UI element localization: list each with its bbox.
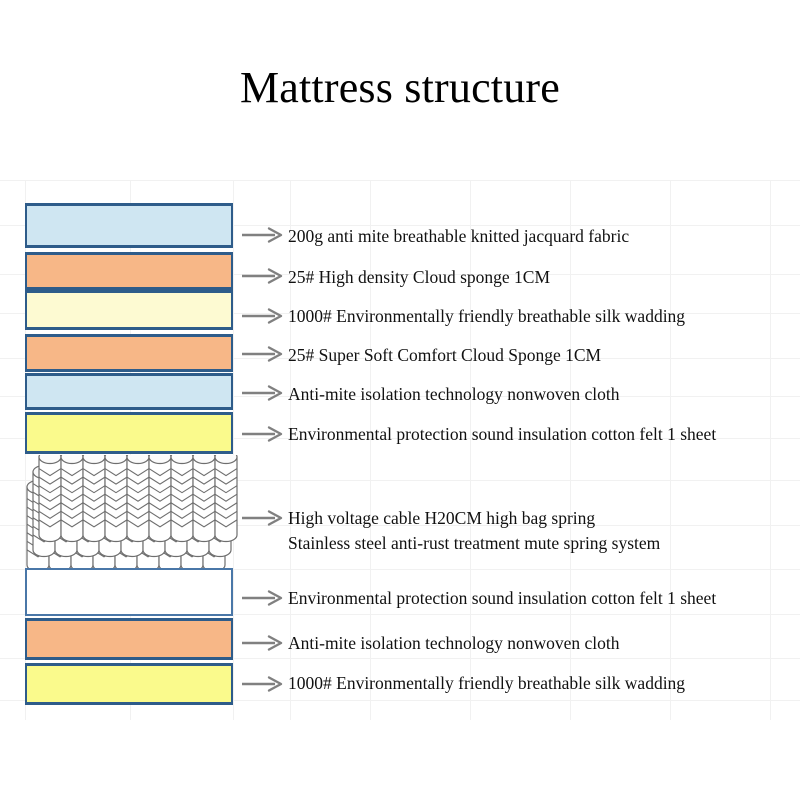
mattress-layer-cotton-felt-bottom xyxy=(25,568,233,616)
layer-label-line2: Stainless steel anti-rust treatment mute… xyxy=(288,531,660,556)
layer-label: Environmental protection sound insulatio… xyxy=(288,586,716,611)
layer-label-line1: 25# High density Cloud sponge 1CM xyxy=(288,267,550,287)
mattress-layer-pocket-spring-system xyxy=(25,455,240,568)
arrow-right-icon xyxy=(241,675,285,693)
mattress-layer-nonwoven-cloth-top xyxy=(25,373,233,410)
arrow-right-icon xyxy=(241,307,285,325)
layer-label: 1000# Environmentally friendly breathabl… xyxy=(288,304,685,329)
layer-label: Anti-mite isolation technology nonwoven … xyxy=(288,631,619,656)
layer-label-line1: 200g anti mite breathable knitted jacqua… xyxy=(288,226,629,246)
mattress-layer-super-soft-comfort-cloud-sponge xyxy=(25,334,233,372)
layer-label: Environmental protection sound insulatio… xyxy=(288,422,716,447)
mattress-layer-cotton-felt-top xyxy=(25,412,233,454)
mattress-layer-nonwoven-cloth-bottom xyxy=(25,618,233,660)
arrow-right-icon xyxy=(241,267,285,285)
layer-label-line1: Anti-mite isolation technology nonwoven … xyxy=(288,384,619,404)
arrow-right-icon xyxy=(241,425,285,443)
arrow-right-icon xyxy=(241,345,285,363)
arrow-right-icon xyxy=(241,384,285,402)
pocket-spring-icon xyxy=(25,455,240,568)
layer-label-line1: Environmental protection sound insulatio… xyxy=(288,424,716,444)
layer-label-line1: High voltage cable H20CM high bag spring xyxy=(288,508,595,528)
mattress-layer-silk-wadding-bottom xyxy=(25,663,233,705)
layer-label-line1: 1000# Environmentally friendly breathabl… xyxy=(288,306,685,326)
arrow-right-icon xyxy=(241,509,285,527)
arrow-right-icon xyxy=(241,589,285,607)
layer-label-line1: Environmental protection sound insulatio… xyxy=(288,588,716,608)
layer-label-line1: 1000# Environmentally friendly breathabl… xyxy=(288,673,685,693)
layer-label: 25# Super Soft Comfort Cloud Sponge 1CM xyxy=(288,343,601,368)
mattress-layer-silk-wadding-top xyxy=(25,290,233,330)
layer-label: High voltage cable H20CM high bag spring… xyxy=(288,506,660,556)
mattress-layer-high-density-cloud-sponge xyxy=(25,252,233,290)
mattress-structure-diagram: 200g anti mite breathable knitted jacqua… xyxy=(0,0,800,800)
layer-label: 200g anti mite breathable knitted jacqua… xyxy=(288,224,629,249)
arrow-right-icon xyxy=(241,226,285,244)
layer-label: 1000# Environmentally friendly breathabl… xyxy=(288,671,685,696)
mattress-layer-knitted-jacquard-fabric xyxy=(25,203,233,248)
layer-label: 25# High density Cloud sponge 1CM xyxy=(288,265,550,290)
layer-label-line1: Anti-mite isolation technology nonwoven … xyxy=(288,633,619,653)
arrow-right-icon xyxy=(241,634,285,652)
layer-label: Anti-mite isolation technology nonwoven … xyxy=(288,382,619,407)
layer-label-line1: 25# Super Soft Comfort Cloud Sponge 1CM xyxy=(288,345,601,365)
